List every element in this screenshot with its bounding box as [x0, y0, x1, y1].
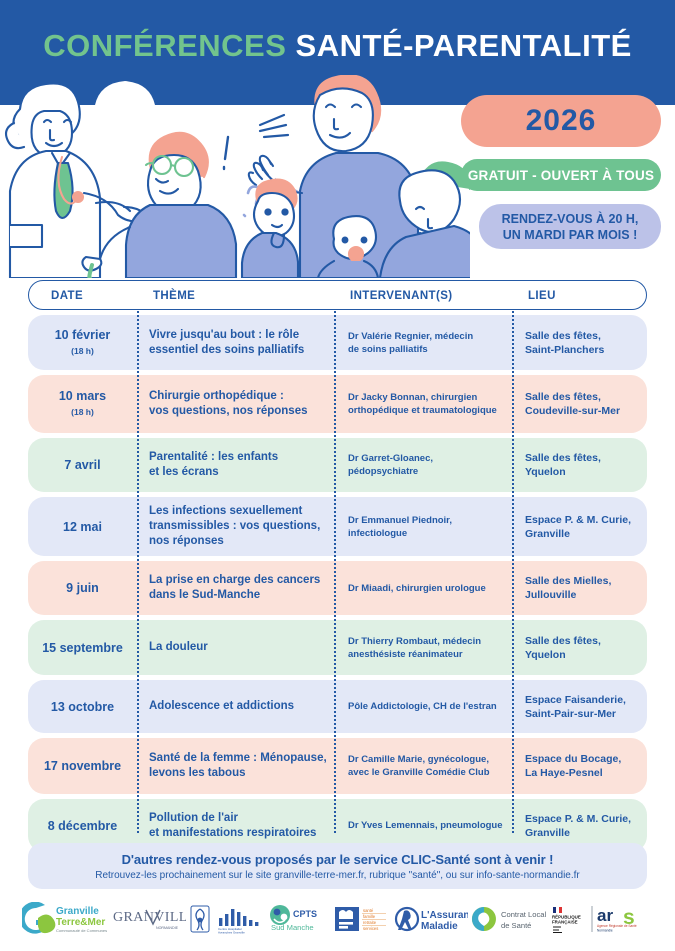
row-date: 10 février (18 h) [28, 328, 137, 358]
table-row: 10 mars (18 h) Chirurgie orthopédique : … [28, 375, 647, 433]
svg-text:FRANÇAISE: FRANÇAISE [552, 920, 578, 925]
row-place: Espace P. & M. Curie, Granville [525, 812, 647, 840]
msa-logo: santé famille retraite services [334, 904, 392, 934]
conference-schedule-table: DATE THÈME INTERVENANT(S) LIEU 10 févrie… [28, 280, 647, 857]
footer-note: D'autres rendez-vous proposés par le ser… [28, 843, 647, 889]
row-speaker: Dr Emmanuel Piednoir, infectiologue [348, 514, 510, 540]
table-row: 17 novembre Santé de la femme : Ménopaus… [28, 738, 647, 794]
row-hour-value: (18 h) [28, 405, 137, 419]
svg-text:CPTS: CPTS [293, 909, 317, 919]
column-header-speakers: INTERVENANT(S) [350, 281, 453, 311]
row-date: 9 juin [28, 581, 137, 595]
svg-text:Terre&Mer: Terre&Mer [56, 917, 105, 928]
table-row: 7 avril Parentalité : les enfants et les… [28, 438, 647, 492]
title-part-conferences: CONFÉRENCES [43, 28, 286, 63]
granville-terre-et-mer-logo: Granville Terre&Mer Communauté de Commun… [22, 902, 110, 936]
ars-normandie-logo: ar s Agence Régionale de Santé Normandie [591, 903, 653, 935]
footer-note-detail: Retrouvez-les prochainement sur le site … [95, 870, 580, 881]
row-speaker: Dr Valérie Regnier, médecin de soins pal… [348, 330, 510, 356]
row-theme: Santé de la femme : Ménopause, levons le… [149, 751, 331, 781]
svg-text:Communauté de Communes: Communauté de Communes [56, 928, 107, 933]
row-theme: La prise en charge des cancers dans le S… [149, 573, 331, 603]
row-theme: Les infections sexuellement transmissibl… [149, 504, 331, 549]
row-date: 8 décembre [28, 819, 137, 833]
row-place: Espace Faisanderie, Saint-Pair-sur-Mer [525, 693, 647, 721]
schedule-badge: RENDEZ-VOUS À 20 H, UN MARDI PAR MOIS ! [479, 204, 661, 249]
row-date-value: 9 juin [66, 581, 99, 595]
poster: CONFÉRENCES SANTÉ-PARENTALITÉ [0, 0, 675, 951]
row-date: 13 octobre [28, 700, 137, 714]
row-date: 7 avril [28, 458, 137, 472]
table-row: 13 octobre Adolescence et addictions Pôl… [28, 680, 647, 733]
svg-text:famille: famille [363, 914, 376, 919]
row-place: Salle des Mielles, Jullouville [525, 574, 647, 602]
contrat-local-de-sante-logo: Contrat Local de Santé [470, 904, 546, 934]
row-speaker: Dr Thierry Rombaut, médecin anesthésiste… [348, 635, 510, 661]
row-hour-value: (18 h) [28, 344, 137, 358]
row-date-value: 8 décembre [48, 819, 117, 833]
granville-ville-logo: GRANVILLE NORMANDIE [112, 904, 186, 934]
page-title: CONFÉRENCES SANTÉ-PARENTALITÉ [0, 27, 675, 65]
row-date-value: 17 novembre [44, 759, 121, 773]
republique-francaise-logo: RÉPUBLIQUE FRANÇAISE [549, 904, 589, 934]
row-date-value: 7 avril [64, 458, 100, 472]
row-date: 15 septembre [28, 641, 137, 655]
row-place: Salle des fêtes, Yquelon [525, 634, 647, 662]
row-speaker: Dr Garret-Gloanec, pédopsychiatre [348, 452, 510, 478]
cpts-sud-manche-logo: CPTS Sud Manche [267, 904, 331, 934]
row-theme: Adolescence et addictions [149, 699, 331, 714]
footer-note-headline: D'autres rendez-vous proposés par le ser… [122, 852, 554, 867]
row-place: Salle des fêtes, Yquelon [525, 451, 647, 479]
svg-text:NORMANDIE: NORMANDIE [156, 926, 179, 930]
schedule-badge-line1: RENDEZ-VOUS À 20 H, [502, 211, 639, 227]
row-speaker: Dr Camille Marie, gynécologue, avec le G… [348, 753, 510, 779]
row-date-value: 10 février [55, 328, 111, 342]
svg-text:Contrat Local: Contrat Local [501, 910, 546, 919]
table-header-row: DATE THÈME INTERVENANT(S) LIEU [28, 280, 647, 310]
poster-header: CONFÉRENCES SANTÉ-PARENTALITÉ [0, 0, 675, 278]
schedule-badge-line2: UN MARDI PAR MOIS ! [503, 227, 638, 243]
row-theme: Pollution de l'air et manifestations res… [149, 811, 331, 841]
title-part-sante-parentalite: SANTÉ-PARENTALITÉ [296, 28, 632, 63]
svg-text:Normandie: Normandie [597, 928, 613, 932]
column-header-place: LIEU [528, 281, 556, 311]
svg-text:Granville: Granville [56, 906, 99, 917]
svg-text:retraite: retraite [363, 920, 377, 925]
row-theme: Vivre jusqu'au bout : le rôle essentiel … [149, 328, 331, 358]
free-badge: GRATUIT - OUVERT À TOUS [461, 159, 661, 191]
table-row: 10 février (18 h) Vivre jusqu'au bout : … [28, 315, 647, 370]
people-illustration [0, 75, 470, 278]
year-badge: 2026 [461, 95, 661, 147]
svg-text:Sud Manche: Sud Manche [271, 923, 314, 932]
svg-text:Avranches Granville: Avranches Granville [218, 930, 245, 934]
row-date-value: 12 mai [63, 520, 102, 534]
svg-text:ar: ar [597, 906, 613, 925]
row-date-value: 15 septembre [42, 641, 123, 655]
row-speaker: Dr Yves Lemennais, pneumologue [348, 819, 510, 832]
table-row: 15 septembre La douleur Dr Thierry Romba… [28, 620, 647, 675]
svg-text:santé: santé [363, 908, 374, 913]
assurance-maladie-logo: L'Assurance Maladie [394, 904, 468, 934]
ordre-infirmiers-logo [189, 904, 211, 934]
column-header-theme: THÈME [153, 281, 195, 311]
row-place: Salle des fêtes, Saint-Planchers [525, 329, 647, 357]
table-row: 12 mai Les infections sexuellement trans… [28, 497, 647, 556]
svg-text:Agence Régionale de Santé: Agence Régionale de Santé [597, 924, 637, 928]
table-body: 10 février (18 h) Vivre jusqu'au bout : … [28, 315, 647, 852]
row-speaker: Dr Miaadi, chirurgien urologue [348, 582, 510, 595]
svg-text:services: services [363, 926, 378, 931]
svg-text:L'Assurance: L'Assurance [421, 910, 468, 921]
row-speaker: Pôle Addictologie, CH de l'estran [348, 700, 510, 713]
row-date: 12 mai [28, 520, 137, 534]
partner-logos: Granville Terre&Mer Communauté de Commun… [0, 896, 675, 942]
svg-text:Maladie: Maladie [421, 921, 458, 932]
row-date-value: 13 octobre [51, 700, 114, 714]
table-row: 9 juin La prise en charge des cancers da… [28, 561, 647, 615]
centre-hospitalier-avranches-granville-logo: Centre Hospitalier Avranches Granville [213, 904, 265, 934]
row-theme: Parentalité : les enfants et les écrans [149, 450, 331, 480]
row-place: Espace P. & M. Curie, Granville [525, 513, 647, 541]
row-place: Espace du Bocage, La Haye-Pesnel [525, 752, 647, 780]
row-date: 10 mars (18 h) [28, 389, 137, 419]
row-theme: La douleur [149, 640, 331, 655]
svg-text:de Santé: de Santé [501, 921, 531, 930]
row-date: 17 novembre [28, 759, 137, 773]
column-header-date: DATE [51, 281, 83, 311]
row-theme: Chirurgie orthopédique : vos questions, … [149, 389, 331, 419]
row-place: Salle des fêtes, Coudeville-sur-Mer [525, 390, 647, 418]
row-date-value: 10 mars [59, 389, 106, 403]
row-speaker: Dr Jacky Bonnan, chirurgien orthopédique… [348, 391, 510, 417]
